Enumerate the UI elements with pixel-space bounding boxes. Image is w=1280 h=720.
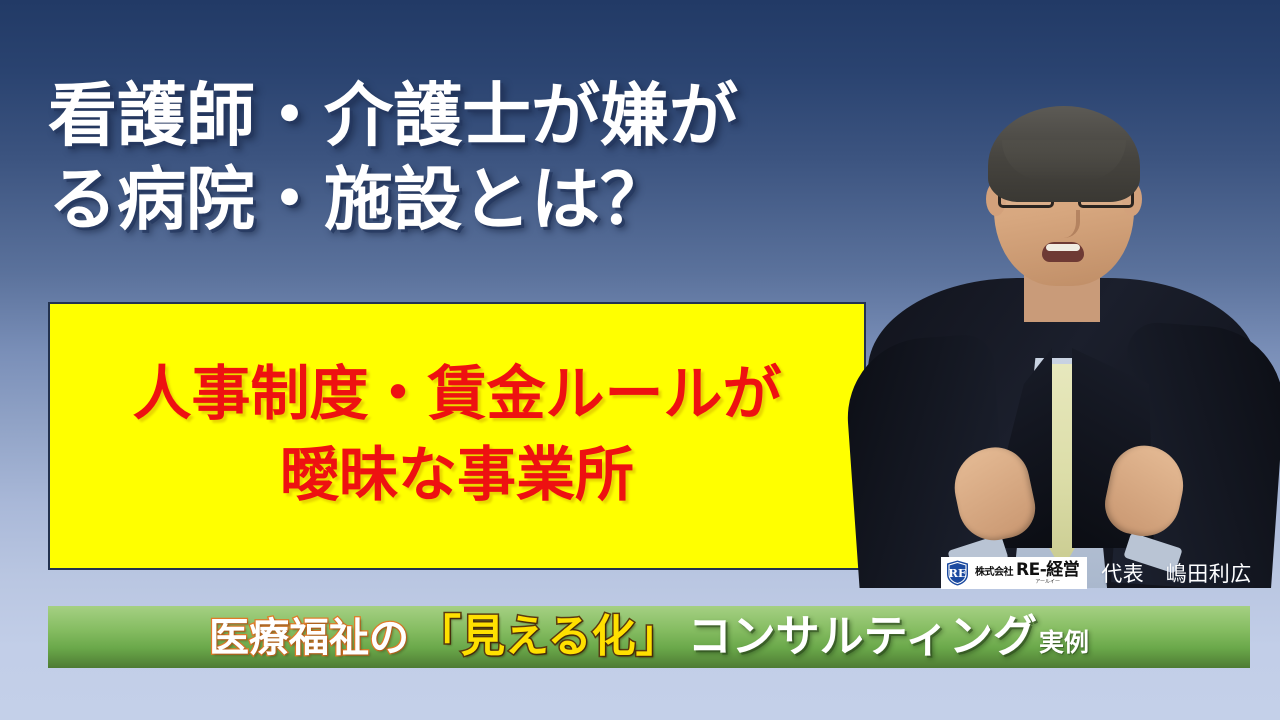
logo-brand-ruby: アールイー xyxy=(1035,580,1060,585)
footer-banner: 医療福祉の 「見える化」 コンサルティング 実例 xyxy=(48,606,1250,668)
re-shield-icon: RE xyxy=(946,560,969,586)
headline-title: 看護師・介護士が嫌が る病院・施設とは？ xyxy=(48,74,878,242)
mouth xyxy=(1042,242,1084,262)
highlight-box-text: 人事制度・賃金ルールが 曖昧な事業所 xyxy=(132,353,781,520)
logo-brand-wrap: RE-経営 アールイー xyxy=(1016,562,1079,585)
banner-segment-2: 「見える化」 xyxy=(417,615,680,659)
banner-segment-4: 実例 xyxy=(1039,630,1089,655)
logo-strip: RE 株式会社 RE-経営 アールイー 代表 嶋田利広 xyxy=(941,557,1252,589)
company-logo-card: RE 株式会社 RE-経営 アールイー xyxy=(941,557,1087,589)
banner-segment-1: 医療福祉の xyxy=(209,618,409,658)
presenter-photo xyxy=(846,96,1280,588)
svg-text:RE: RE xyxy=(948,566,967,580)
highlight-box: 人事制度・賃金ルールが 曖昧な事業所 xyxy=(48,302,866,570)
logo-brand-text: RE-経営 xyxy=(1016,562,1079,579)
hair xyxy=(988,106,1140,202)
logo-corp-prefix: 株式会社 xyxy=(975,568,1013,578)
slide-root: 看護師・介護士が嫌が る病院・施設とは？ 人事制度・賃金ルールが 曖昧な事業所 xyxy=(0,0,1280,720)
footer-banner-text: 医療福祉の 「見える化」 コンサルティング 実例 xyxy=(209,615,1089,659)
banner-segment-3: コンサルティング xyxy=(688,615,1037,659)
presenter-name: 代表 嶋田利広 xyxy=(1101,558,1252,588)
